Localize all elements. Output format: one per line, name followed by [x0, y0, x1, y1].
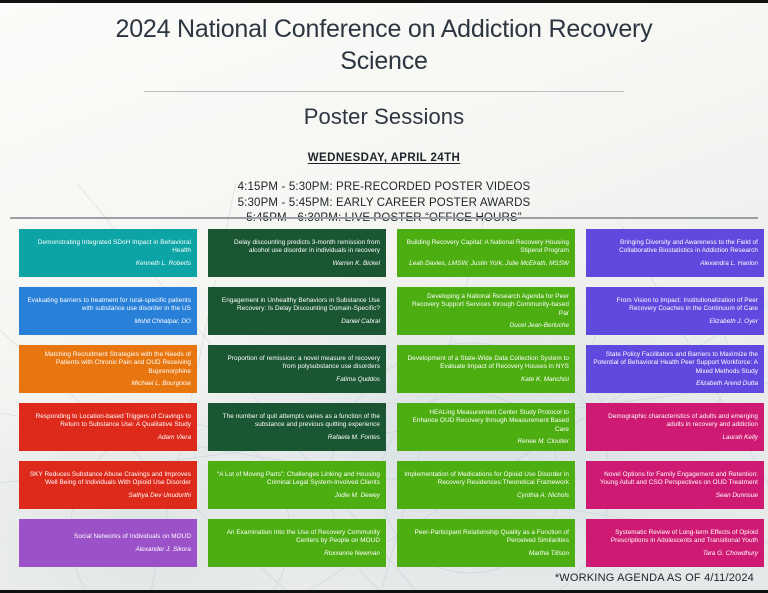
session-time-2: 5:30PM - 5:45PM: EARLY CAREER POSTER AWA…	[0, 196, 768, 212]
session-day: WEDNESDAY, APRIL 24TH	[0, 152, 768, 164]
poster-author: Fatima Quddos	[214, 376, 380, 384]
poster-card[interactable]: HEALing Measurement Center Study Protoco…	[397, 403, 575, 451]
poster-card[interactable]: Social Networks of Individuals on MOUDAl…	[19, 519, 197, 567]
session-time-1: 4:15PM - 5:30PM: PRE-RECORDED POSTER VID…	[0, 180, 768, 196]
poster-card[interactable]: SKY Reduces Substance Abuse Cravings and…	[19, 461, 197, 509]
poster-title: “A Lot of Moving Parts”: Challenges Link…	[214, 471, 380, 487]
poster-title: The number of quit attempts varies as a …	[214, 413, 380, 429]
poster-title: Delay discounting predicts 3-month remis…	[214, 239, 380, 255]
poster-title: Demonstrating Integrated SDoH Impact in …	[25, 239, 191, 255]
poster-author: Cynthia A. Nichols	[403, 492, 569, 500]
poster-title: Novel Options for Family Engagement and …	[592, 471, 758, 487]
poster-card[interactable]: Systematic Review of Long-term Effects o…	[586, 519, 764, 567]
poster-title: Proportion of remission: a novel measure…	[214, 355, 380, 371]
poster-title: HEALing Measurement Center Study Protoco…	[403, 409, 569, 433]
section-title: Poster Sessions	[0, 104, 768, 130]
poster-card[interactable]: Matching Recruitment Strategies with the…	[19, 345, 197, 393]
poster-author: Renee M. Cloutier	[403, 438, 569, 446]
poster-title: Systematic Review of Long-term Effects o…	[592, 529, 758, 545]
poster-title: Responding to Location-based Triggers of…	[25, 413, 191, 429]
poster-card[interactable]: Proportion of remission: a novel measure…	[208, 345, 386, 393]
poster-author: Ducel Jean-Berluche	[403, 322, 569, 330]
poster-title: State Policy Facilitators and Barriers t…	[592, 351, 758, 375]
poster-title: Developing a National Research Agenda fo…	[403, 293, 569, 317]
poster-author: Laurah Kelly	[592, 434, 758, 442]
poster-card[interactable]: “A Lot of Moving Parts”: Challenges Link…	[208, 461, 386, 509]
poster-card[interactable]: Demonstrating Integrated SDoH Impact in …	[19, 229, 197, 277]
poster-title: Demographic characteristics of adults an…	[592, 413, 758, 429]
poster-author: Daniel Cabral	[214, 318, 380, 326]
poster-title: Matching Recruitment Strategies with the…	[25, 351, 191, 375]
slide-header: 2024 National Conference on Addiction Re…	[0, 3, 768, 227]
working-agenda-note: *WORKING AGENDA AS OF 4/11/2024	[555, 572, 754, 584]
poster-title: Evaluating barriers to treatment for rur…	[25, 297, 191, 313]
header-divider	[10, 217, 758, 219]
poster-card[interactable]: Development of a State-Wide Data Collect…	[397, 345, 575, 393]
poster-title: From Vision to Impact: Institutionalizat…	[592, 297, 758, 313]
poster-title: Building Recovery Capital: A National Re…	[403, 239, 569, 255]
poster-author: Roxxanne Newman	[214, 550, 380, 558]
conference-title: 2024 National Conference on Addiction Re…	[74, 13, 694, 77]
poster-card[interactable]: Implementation of Medications for Opioid…	[397, 461, 575, 509]
header-rule	[144, 91, 624, 92]
poster-author: Sathya Dev Unudurthi	[25, 492, 191, 500]
poster-grid: Demonstrating Integrated SDoH Impact in …	[0, 229, 768, 567]
poster-title: Bringing Diversity and Awareness to the …	[592, 239, 758, 255]
poster-card[interactable]: From Vision to Impact: Institutionalizat…	[586, 287, 764, 335]
poster-author: Elizabeth Arend Dutta	[592, 380, 758, 388]
poster-card[interactable]: An Examination Into the Use of Recovery …	[208, 519, 386, 567]
poster-author: Mohit Chhatpar, DO	[25, 318, 191, 326]
poster-author: Alexandra L. Hanlon	[592, 260, 758, 268]
poster-author: Alexander J. Sikora	[25, 546, 191, 554]
poster-title: An Examination Into the Use of Recovery …	[214, 529, 380, 545]
poster-card[interactable]: Developing a National Research Agenda fo…	[397, 287, 575, 335]
poster-author: Rafaela M. Fontes	[214, 434, 380, 442]
poster-card[interactable]: Demographic characteristics of adults an…	[586, 403, 764, 451]
poster-title: Development of a State-Wide Data Collect…	[403, 355, 569, 371]
poster-author: Adam Viera	[25, 434, 191, 442]
poster-card[interactable]: Building Recovery Capital: A National Re…	[397, 229, 575, 277]
poster-card[interactable]: Engagement in Unhealthy Behaviors in Sub…	[208, 287, 386, 335]
poster-title: Peer-Participant Relationship Quality as…	[403, 529, 569, 545]
poster-card[interactable]: Novel Options for Family Engagement and …	[586, 461, 764, 509]
poster-title: Implementation of Medications for Opioid…	[403, 471, 569, 487]
poster-author: Kenneth L. Roberts	[25, 260, 191, 268]
poster-title: Engagement in Unhealthy Behaviors in Sub…	[214, 297, 380, 313]
poster-author: Leah Davies, LMSW, Justin York, Julie Mc…	[403, 260, 569, 268]
poster-author: Jodie M. Dewey	[214, 492, 380, 500]
poster-card[interactable]: Peer-Participant Relationship Quality as…	[397, 519, 575, 567]
poster-card[interactable]: Delay discounting predicts 3-month remis…	[208, 229, 386, 277]
poster-card[interactable]: State Policy Facilitators and Barriers t…	[586, 345, 764, 393]
poster-title: SKY Reduces Substance Abuse Cravings and…	[25, 471, 191, 487]
poster-author: Elizabeth J. Oyer	[592, 318, 758, 326]
slide-canvas: 2024 National Conference on Addiction Re…	[0, 0, 768, 593]
poster-card[interactable]: Responding to Location-based Triggers of…	[19, 403, 197, 451]
poster-author: Sean Dunnsue	[592, 492, 758, 500]
poster-author: Martha Tillson	[403, 550, 569, 558]
poster-card[interactable]: The number of quit attempts varies as a …	[208, 403, 386, 451]
poster-title: Social Networks of Individuals on MOUD	[25, 533, 191, 541]
poster-card[interactable]: Evaluating barriers to treatment for rur…	[19, 287, 197, 335]
poster-card[interactable]: Bringing Diversity and Awareness to the …	[586, 229, 764, 277]
poster-author: Michael L. Bourgoise	[25, 380, 191, 388]
poster-author: Kate K. Manchisi	[403, 376, 569, 384]
poster-author: Warren K. Bickel	[214, 260, 380, 268]
poster-author: Tara G. Chowdhury	[592, 550, 758, 558]
session-times: 4:15PM - 5:30PM: PRE-RECORDED POSTER VID…	[0, 180, 768, 227]
